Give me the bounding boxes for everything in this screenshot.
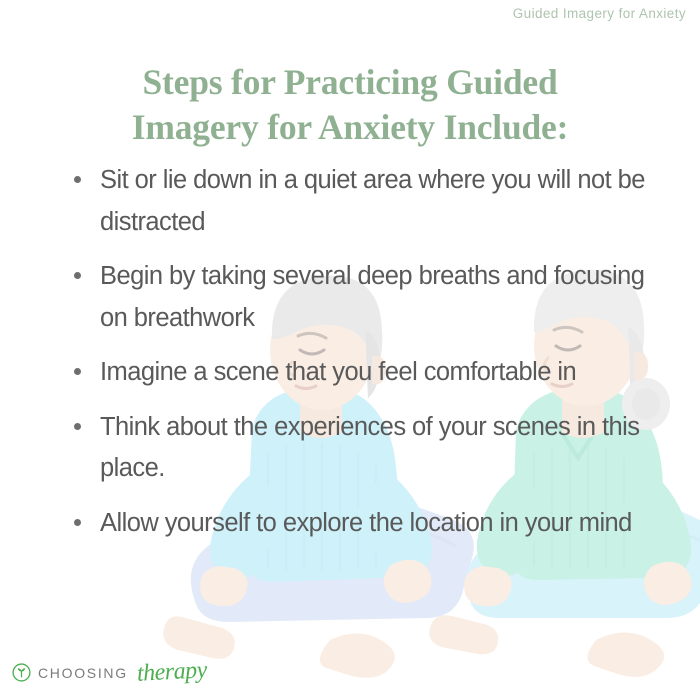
list-item: Imagine a scene that you feel comfortabl… — [68, 352, 658, 394]
list-item-label: Begin by taking several deep breaths and… — [100, 262, 644, 332]
steps-list: Sit or lie down in a quiet area where yo… — [68, 160, 658, 558]
logo-word-therapy: therapy — [136, 657, 207, 688]
list-item: Begin by taking several deep breaths and… — [68, 256, 658, 339]
infographic-canvas: Guided Imagery for Anxiety Steps for Pra… — [0, 0, 700, 700]
list-item-label: Sit or lie down in a quiet area where yo… — [100, 166, 645, 236]
bullet-dot-icon — [74, 368, 81, 375]
list-item: Think about the experiences of your scen… — [68, 407, 658, 490]
bullet-dot-icon — [74, 519, 81, 526]
eyebrow-label: Guided Imagery for Anxiety — [513, 6, 686, 21]
bullet-dot-icon — [74, 423, 81, 430]
list-item: Sit or lie down in a quiet area where yo… — [68, 160, 658, 243]
bullet-dot-icon — [74, 272, 81, 279]
list-item-label: Think about the experiences of your scen… — [100, 413, 640, 483]
choosing-therapy-logo[interactable]: CHOOSING therapy — [12, 659, 207, 686]
list-item: Allow yourself to explore the location i… — [68, 503, 658, 545]
page-title-line-1: Steps for Practicing Guided — [50, 60, 650, 105]
logo-word-choosing: CHOOSING — [38, 665, 128, 681]
leaf-circle-icon — [12, 663, 31, 682]
list-item-label: Imagine a scene that you feel comfortabl… — [100, 358, 576, 386]
page-title-line-2: Imagery for Anxiety Include: — [50, 105, 650, 150]
list-item-label: Allow yourself to explore the location i… — [100, 509, 632, 537]
page-title: Steps for Practicing Guided Imagery for … — [50, 60, 650, 150]
bullet-dot-icon — [74, 176, 81, 183]
